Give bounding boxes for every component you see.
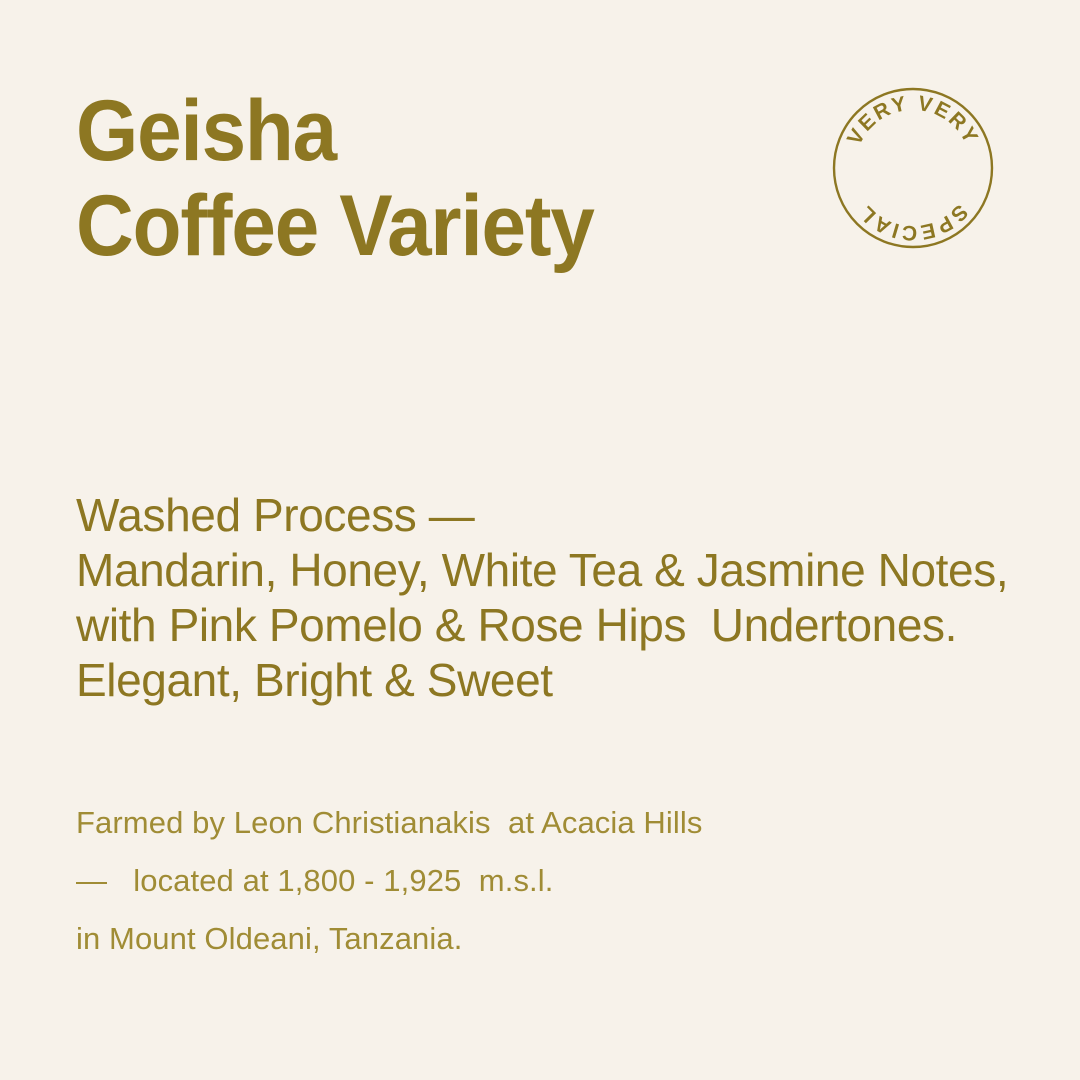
origin-line-2: — located at 1,800 - 1,925 m.s.l.: [76, 852, 976, 910]
page-title-line-2: Coffee Variety: [76, 179, 727, 274]
coffee-label-poster: Geisha Coffee Variety VERY VERY SPECIAL …: [0, 0, 1080, 1080]
page-title-line-1: Geisha: [76, 84, 727, 179]
tasting-notes-line-2: Mandarin, Honey, White Tea & Jasmine Not…: [76, 543, 1036, 598]
origin-block: Farmed by Leon Christianakis at Acacia H…: [76, 794, 976, 968]
origin-line-3: in Mount Oldeani, Tanzania.: [76, 910, 976, 968]
tasting-notes-line-3: with Pink Pomelo & Rose Hips Undertones.: [76, 598, 1036, 653]
tasting-notes-line-1: Washed Process —: [76, 488, 1036, 543]
origin-line-1: Farmed by Leon Christianakis at Acacia H…: [76, 794, 976, 852]
tasting-notes-line-4: Elegant, Bright & Sweet: [76, 653, 1036, 708]
badge-top-text: VERY VERY: [843, 92, 983, 149]
page-title: Geisha Coffee Variety: [76, 84, 776, 274]
badge-bottom-text: SPECIAL: [854, 200, 972, 244]
very-very-special-badge: VERY VERY SPECIAL: [833, 88, 993, 248]
tasting-notes-block: Washed Process — Mandarin, Honey, White …: [76, 488, 1036, 708]
